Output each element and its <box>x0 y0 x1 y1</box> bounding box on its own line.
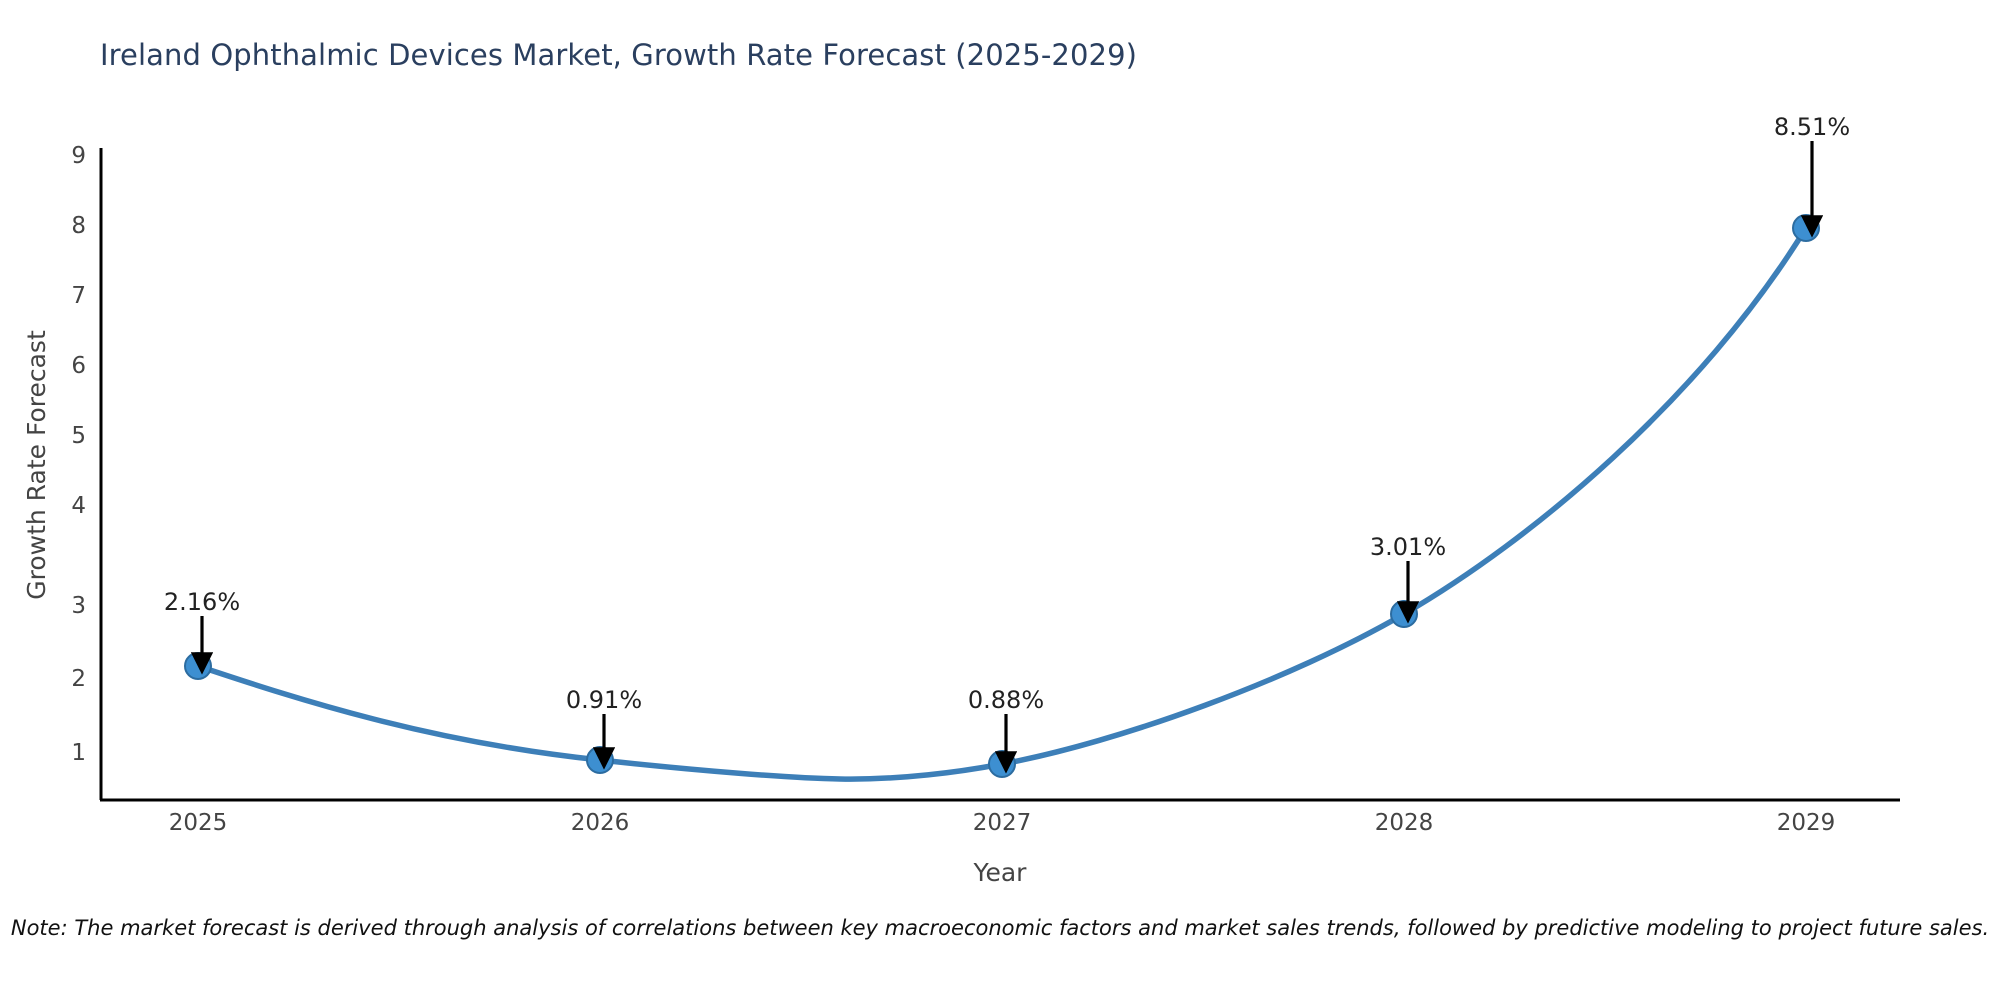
chart-note: Note: The market forecast is derived thr… <box>0 916 2000 940</box>
data-label-2026: 0.91% <box>566 686 642 714</box>
data-label-2027: 0.88% <box>968 686 1044 714</box>
chart-figure: Ireland Ophthalmic Devices Market, Growt… <box>0 0 2000 1000</box>
data-point-marker-2027[interactable] <box>989 751 1015 777</box>
data-label-2025: 2.16% <box>164 588 240 616</box>
data-point-marker-2026[interactable] <box>587 747 613 773</box>
data-point-marker-2029[interactable] <box>1793 215 1819 241</box>
data-label-2029: 8.51% <box>1774 113 1850 141</box>
data-point-marker-2028[interactable] <box>1391 601 1417 627</box>
data-label-2028: 3.01% <box>1370 533 1446 561</box>
plot-area <box>0 0 2000 1000</box>
data-point-marker-2025[interactable] <box>185 653 211 679</box>
